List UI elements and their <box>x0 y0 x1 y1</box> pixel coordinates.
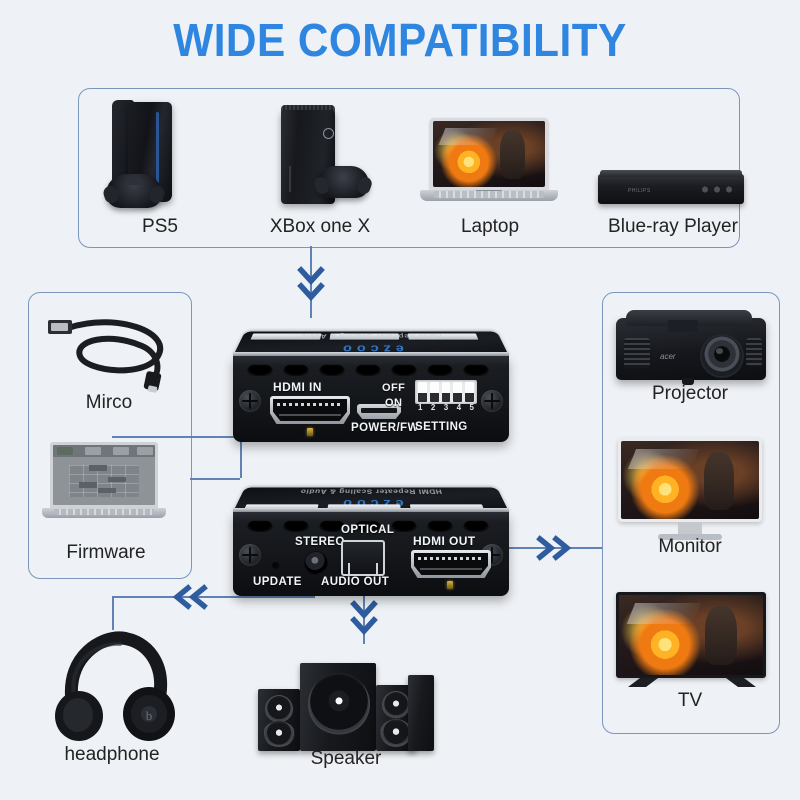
vent-slot <box>283 520 309 532</box>
vent-slot <box>427 520 453 532</box>
input-label-mirco: Mirco <box>29 392 189 414</box>
optical-port[interactable] <box>341 540 385 576</box>
headphone-icon: b <box>52 630 180 750</box>
dip-number: 2 <box>431 403 435 412</box>
hdmi-out-port[interactable] <box>411 550 491 578</box>
dip-number: 4 <box>457 403 461 412</box>
monitor-icon <box>618 438 764 542</box>
update-label: UPDATE <box>253 576 302 588</box>
hdmi-switch-front-panel[interactable]: ezcoo HDMI Repeater Scaling & Audio HDMI… <box>233 322 509 442</box>
device-front-face: HDMI IN POWER/FW OFF ON 1 2 <box>233 356 509 442</box>
dip-off-label: OFF <box>382 382 405 394</box>
speaker-system-icon <box>258 645 434 749</box>
tv-icon <box>616 592 768 690</box>
dip-switch-5[interactable] <box>465 382 474 402</box>
bluray-player-icon: PHILIPS <box>598 160 748 210</box>
status-led-icon-back <box>447 581 453 589</box>
infographic-canvas: WIDE COMPATIBILITY PS5 <box>0 0 800 800</box>
dip-switch-3[interactable] <box>442 382 451 402</box>
display-label-tv: TV <box>610 690 770 712</box>
usb-cable-icon <box>38 312 178 392</box>
screw-left-icon <box>239 390 261 412</box>
vent-slot <box>391 520 417 532</box>
brand-tagline: HDMI Repeater Scaling & Audio <box>241 333 501 340</box>
brand-tagline-back: HDMI Repeater Scaling & Audio <box>241 488 500 495</box>
input-label-firmware: Firmware <box>26 542 186 564</box>
source-label-bluray: Blue-ray Player <box>593 216 753 238</box>
vent-slot <box>283 364 309 376</box>
connector-left-vertical <box>240 436 242 478</box>
connector-micro-to-device <box>112 436 240 438</box>
dip-number: 1 <box>418 403 422 412</box>
vent-slot <box>463 520 489 532</box>
xbox-console-icon <box>265 104 377 212</box>
screw-left-icon <box>239 544 261 566</box>
laptop-icon <box>420 118 560 208</box>
optical-label: OPTICAL <box>341 524 394 536</box>
connector-headphone-drop <box>112 596 114 630</box>
dip-switch-2[interactable] <box>430 382 439 402</box>
hdmi-in-label: HDMI IN <box>273 380 322 394</box>
power-fw-label: POWER/FW <box>351 422 419 434</box>
setting-label: SETTING <box>415 421 468 433</box>
svg-text:b: b <box>146 708 153 723</box>
page-title: WIDE COMPATIBILITY <box>32 14 768 66</box>
vent-slot <box>247 520 273 532</box>
hdmi-out-label: HDMI OUT <box>413 534 476 548</box>
audio-label-speaker: Speaker <box>266 748 426 770</box>
screw-right-icon <box>481 390 503 412</box>
display-label-projector: Projector <box>610 383 770 405</box>
vent-slot <box>247 364 273 376</box>
setting-dip-block[interactable] <box>415 380 477 404</box>
connector-panel-edge <box>190 436 192 437</box>
connector-stereo-to-headphone <box>112 596 315 598</box>
stereo-label: STEREO <box>295 536 345 548</box>
playstation-console-icon <box>106 100 216 212</box>
vent-slot <box>355 364 381 376</box>
dip-number: 5 <box>470 403 474 412</box>
stereo-jack-port[interactable] <box>305 552 327 574</box>
dip-on-label: ON <box>385 397 402 409</box>
vent-slot <box>391 364 417 376</box>
device-back-face: UPDATE STEREO OPTICAL AUDIO OUT HDMI OUT <box>233 512 509 596</box>
projector-icon: acer <box>616 308 768 388</box>
audio-label-headphone: headphone <box>32 744 192 766</box>
display-label-monitor: Monitor <box>610 536 770 558</box>
status-led-icon <box>307 428 313 436</box>
audio-out-group: AUDIO OUT <box>321 576 389 588</box>
hdmi-in-port[interactable] <box>270 396 350 424</box>
vent-slot <box>319 364 345 376</box>
dip-switch-1[interactable] <box>418 382 427 402</box>
connector-micro-stub <box>112 436 114 437</box>
hdmi-switch-back-panel[interactable]: ezcoo HDMI Repeater Scaling & Audio <box>233 478 509 596</box>
vent-slot <box>427 364 453 376</box>
dip-number: 3 <box>444 403 448 412</box>
laptop-firmware-icon <box>42 442 170 522</box>
dip-number-row: 1 2 3 4 5 <box>415 403 477 412</box>
source-label-xbox: XBox one X <box>240 216 400 238</box>
vent-slot <box>463 364 489 376</box>
source-label-laptop: Laptop <box>410 216 570 238</box>
source-label-ps5: PS5 <box>80 216 240 238</box>
dip-switch-4[interactable] <box>453 382 462 402</box>
update-button[interactable] <box>271 560 280 569</box>
